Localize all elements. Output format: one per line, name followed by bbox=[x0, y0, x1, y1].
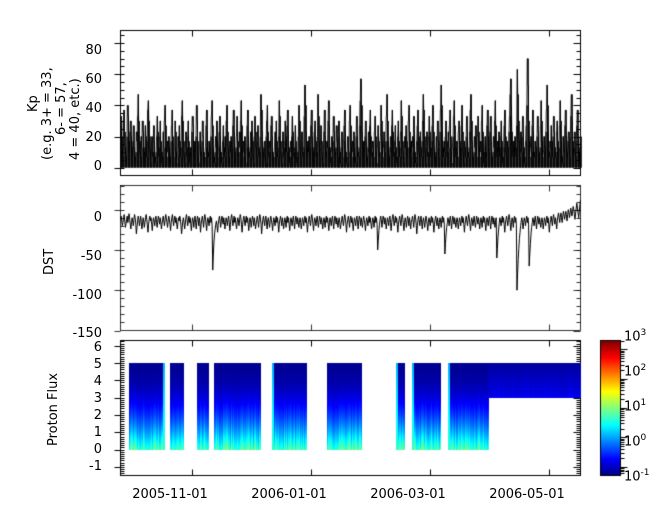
xtick-2006-01-01: 2006-01-01 bbox=[234, 487, 344, 502]
colorbar-tick-1e0: 100 bbox=[624, 433, 646, 449]
dst-ytick-150: -150 bbox=[62, 326, 102, 341]
xtick-2006-03-01: 2006-03-01 bbox=[353, 487, 463, 502]
kp-axis-label-line3: 6- = 57, bbox=[54, 82, 69, 135]
colorbar-mantissa: 10 bbox=[624, 399, 641, 414]
kp-ytick-0: 0 bbox=[70, 159, 102, 174]
colorbar-exponent: -1 bbox=[641, 468, 650, 478]
colorbar-exponent: 2 bbox=[641, 363, 647, 373]
kp-axis-label-line4: 4 = 40, etc.) bbox=[68, 78, 83, 160]
flux-ytick-6: 6 bbox=[78, 340, 102, 355]
flux-ytick-0: 0 bbox=[78, 442, 102, 457]
colorbar-tick-1e2: 102 bbox=[624, 363, 646, 379]
colorbar-mantissa: 10 bbox=[624, 329, 641, 344]
dst-ytick-100: -100 bbox=[62, 288, 102, 303]
dst-ytick-0: 0 bbox=[62, 210, 102, 225]
colorbar-tick-1e3: 103 bbox=[624, 328, 646, 344]
flux-ytick-5: 5 bbox=[78, 357, 102, 372]
kp-ytick-80: 80 bbox=[70, 43, 102, 58]
kp-axis-label-line2: (e.g. 3+ = 33, bbox=[40, 67, 55, 160]
flux-ytick-1: 1 bbox=[78, 425, 102, 440]
figure-canvas: 80 60 40 20 0 Kp (e.g. 3+ = 33, 6- = 57,… bbox=[0, 0, 665, 523]
colorbar-exponent: 0 bbox=[641, 433, 647, 443]
xtick-2005-11-01: 2005-11-01 bbox=[115, 487, 225, 502]
colorbar-mantissa: 10 bbox=[624, 364, 641, 379]
colorbar-tick-1e-1: 10-1 bbox=[624, 468, 650, 484]
flux-ytick-2: 2 bbox=[78, 408, 102, 423]
flux-axis-label: Proton Flux bbox=[46, 373, 61, 446]
dst-ytick-50: -50 bbox=[62, 249, 102, 264]
kp-axis-label-line1: Kp bbox=[26, 95, 41, 112]
colorbar-mantissa: 10 bbox=[624, 434, 641, 449]
flux-ytick-neg1: -1 bbox=[70, 459, 102, 474]
flux-ytick-4: 4 bbox=[78, 374, 102, 389]
colorbar-exponent: 1 bbox=[641, 398, 647, 408]
colorbar-tick-1e1: 101 bbox=[624, 398, 646, 414]
dst-axis-label: DST bbox=[42, 249, 57, 275]
colorbar-exponent: 3 bbox=[641, 328, 647, 338]
flux-ytick-3: 3 bbox=[78, 391, 102, 406]
colorbar-mantissa: 10 bbox=[624, 469, 641, 484]
xtick-2006-05-01: 2006-05-01 bbox=[472, 487, 582, 502]
